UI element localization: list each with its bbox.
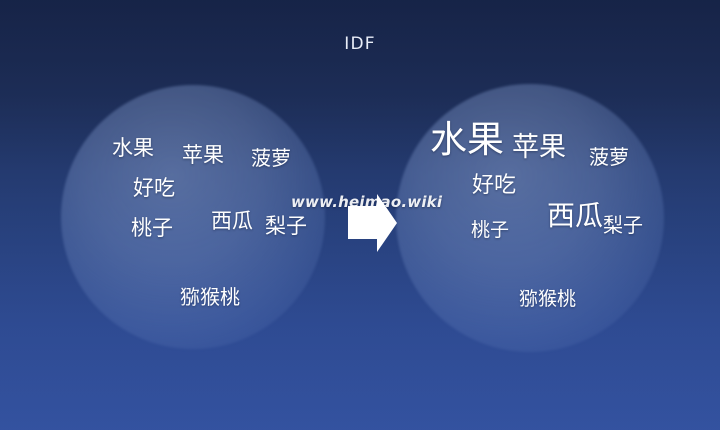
right-arrow-icon: [344, 192, 400, 258]
slide-canvas: IDF 水果苹果菠萝好吃西瓜梨子桃子猕猴桃 水果苹果菠萝好吃西瓜梨子桃子猕猴桃 …: [0, 0, 720, 430]
page-title: IDF: [0, 34, 720, 54]
word-cloud-circle-after: [396, 84, 664, 352]
word-cloud-circle-before: [61, 85, 325, 349]
